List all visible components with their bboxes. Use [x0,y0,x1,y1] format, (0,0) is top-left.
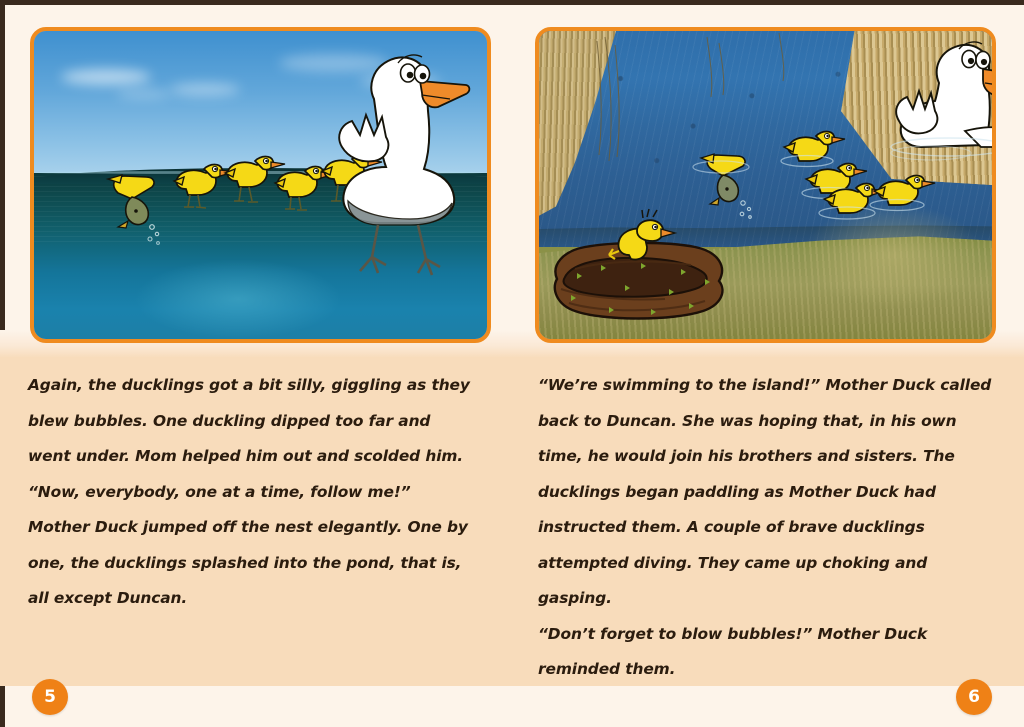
duckling-diving-icon [108,175,159,244]
left-illustration-frame [30,27,491,343]
paragraph: Again, the ducklings got a bit silly, gi… [28,368,478,475]
book-page-spread: Again, the ducklings got a bit silly, gi… [0,0,1024,727]
right-scene-characters [539,31,992,339]
duckling-icon [870,176,935,211]
left-scene-characters [34,31,487,339]
left-illustration [34,31,487,339]
duckling-icon [174,165,234,209]
duckling-icon [225,157,285,203]
paragraph: “Now, everybody, one at a time, follow m… [28,475,478,511]
page-top-edge [0,0,1024,5]
paragraph: “We’re swimming to the island!” Mother D… [538,368,998,617]
reed-stalks [597,33,784,161]
paragraph: Mother Duck jumped off the nest elegantl… [28,510,478,617]
right-illustration-frame [535,27,996,343]
duckling-icon [781,132,845,167]
right-page-text: “We’re swimming to the island!” Mother D… [538,368,998,688]
mother-duck-icon [891,42,992,160]
paragraph: “Don’t forget to blow bubbles!” Mother D… [538,617,998,688]
nest-icon [555,209,723,319]
right-illustration [539,31,992,339]
page-number-badge-right: 6 [956,679,992,715]
left-page-text: Again, the ducklings got a bit silly, gi… [28,368,478,617]
duckling-diving-icon [693,154,751,218]
page-number-badge-left: 5 [32,679,68,715]
